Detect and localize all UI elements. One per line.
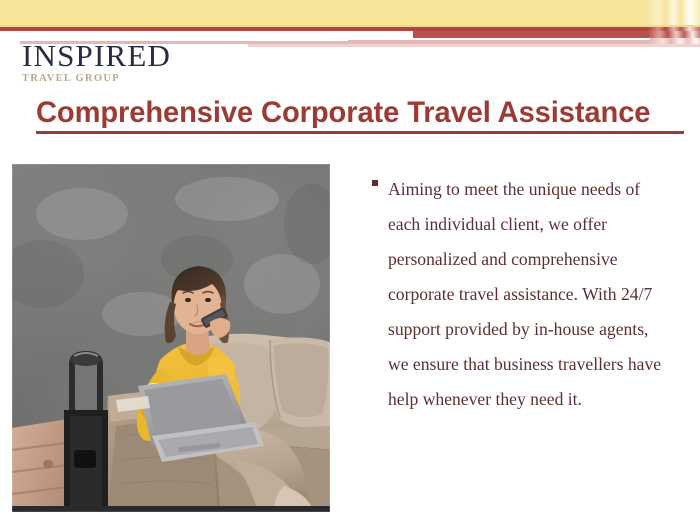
slide-title-underline — [36, 131, 684, 134]
brand-logo-tagline: TRAVEL GROUP — [22, 74, 171, 85]
slide-title: Comprehensive Corporate Travel Assistanc… — [36, 96, 684, 129]
photo-illustration — [12, 164, 330, 512]
brand-logo-name: INSPIRED — [22, 40, 171, 71]
header-yellow-band — [0, 0, 700, 26]
bullet-item: Aiming to meet the unique needs of each … — [372, 172, 672, 417]
header-red-band-secondary-fade — [648, 31, 700, 38]
header-yellow-band-fade — [646, 0, 700, 26]
brand-logo: INSPIRED TRAVEL GROUP — [22, 40, 171, 85]
slide-title-text: Comprehensive Corporate Travel Assistanc… — [36, 96, 665, 129]
header-pink-band-highlight — [348, 38, 664, 40]
bullet-item-text: Aiming to meet the unique needs of each … — [388, 172, 672, 417]
body-text-block: Aiming to meet the unique needs of each … — [372, 172, 672, 417]
header-white-notch — [0, 31, 413, 36]
slide-canvas: INSPIRED TRAVEL GROUP Comprehensive Corp… — [0, 0, 700, 525]
header-pink-band-tail — [248, 44, 700, 47]
photo-woman-with-laptop — [12, 164, 330, 512]
square-bullet-icon — [372, 172, 388, 188]
